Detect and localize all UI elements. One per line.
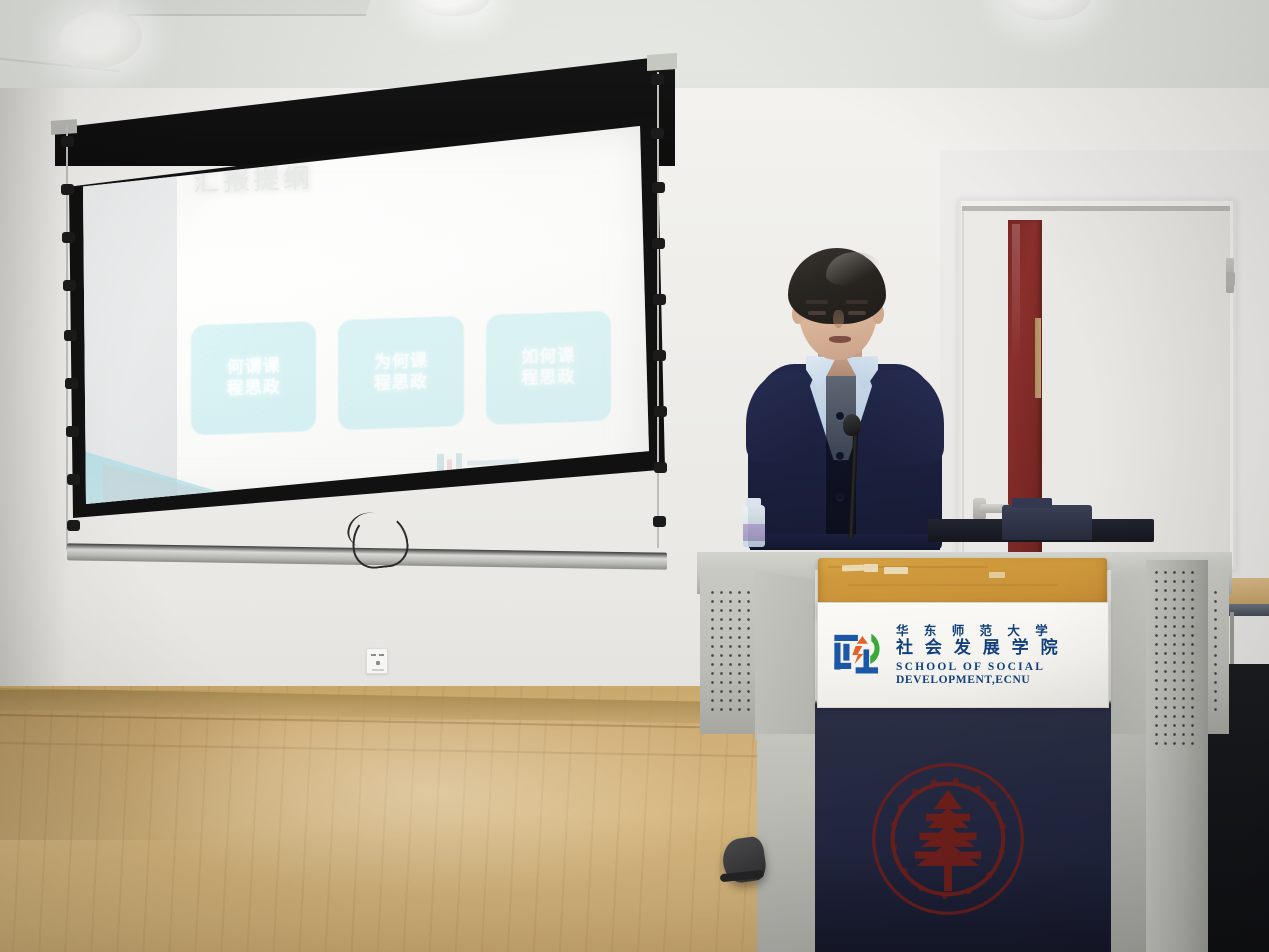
- tile-1-line-1: 何谓课: [227, 356, 281, 378]
- screen-tension-clip: [653, 516, 666, 527]
- lectern-side-grille-dots: [1152, 568, 1200, 750]
- speaker-person: [730, 248, 960, 548]
- screen-tension-clip: [653, 294, 666, 305]
- screen-tension-clip: [652, 182, 665, 193]
- sign-university-name: 华 东 师 范 大 学: [896, 623, 1095, 639]
- tile-1-line-2: 程思政: [227, 377, 281, 399]
- lecture-hall-photo: 汇报提纲 何谓课 程思政 为何课 程思政 如何课 程思政: [0, 0, 1269, 952]
- screen-tension-clip: [63, 280, 76, 291]
- screen-tension-cable-right: [657, 72, 659, 548]
- tape-mark: [842, 565, 864, 572]
- tile-3-line-2: 程思政: [521, 367, 575, 389]
- screen-tension-clip: [651, 128, 664, 139]
- screen-tension-clip: [66, 426, 79, 437]
- tile-3-line-1: 如何课: [521, 346, 575, 368]
- tile-2-line-1: 为何课: [374, 351, 428, 373]
- cardigan-shoulder-right: [870, 370, 944, 464]
- floor-light-reflection: [120, 720, 740, 900]
- screen-tension-clip: [61, 184, 74, 195]
- eyebrow-right: [846, 300, 868, 304]
- ecnu-seal: [869, 760, 1027, 918]
- tile-2-line-2: 程思政: [374, 372, 428, 394]
- nose: [833, 310, 844, 328]
- slide-tile-group: 何谓课 程思政 为何课 程思政 如何课 程思政: [191, 311, 611, 436]
- screen-tension-clip: [651, 74, 664, 85]
- wall-power-outlet[interactable]: [366, 648, 388, 674]
- side-desk-frame: [1228, 604, 1269, 616]
- door-panel-highlight: [1012, 224, 1020, 364]
- screen-tension-clip: [65, 378, 78, 389]
- door-lock-strip: [1035, 318, 1041, 398]
- lectern-base-left: [757, 734, 817, 952]
- hair-grey-highlight: [826, 252, 884, 286]
- screen-tension-clip: [62, 232, 75, 243]
- ecnu-school-logo-icon: [831, 626, 887, 684]
- cardigan-shoulder-left: [746, 372, 816, 462]
- cardigan-button: [836, 412, 844, 420]
- tape-mark: [989, 572, 1005, 578]
- screen-bracket-right: [647, 53, 677, 71]
- slide-tile-1: 何谓课 程思政: [191, 321, 316, 435]
- water-bottle-cap: [746, 498, 761, 507]
- door-top-gap: [962, 206, 1230, 211]
- eyebrow-left: [806, 300, 828, 304]
- door-hinge: [1226, 272, 1235, 286]
- sign-english-line-1: SCHOOL OF SOCIAL: [896, 661, 1095, 674]
- cardigan-button: [836, 492, 844, 500]
- side-desk-top: [1228, 578, 1269, 604]
- sign-english-line-2: DEVELOPMENT,ECNU: [896, 674, 1095, 687]
- screen-tension-clip: [653, 350, 666, 361]
- slide-app-left-pane: [83, 144, 177, 504]
- microphone-head: [843, 414, 861, 436]
- lectern-speaker-grille-left: [700, 570, 762, 734]
- screen-tension-clip: [67, 474, 80, 485]
- slide-surface: 汇报提纲 何谓课 程思政 为何课 程思政 如何课 程思政: [83, 126, 649, 504]
- av-equipment-top: [1012, 498, 1052, 508]
- screen-tension-clip: [652, 238, 665, 249]
- slide-tile-3: 如何课 程思政: [486, 311, 611, 425]
- mouth: [829, 336, 851, 343]
- slide-tile-2: 为何课 程思政: [338, 316, 463, 430]
- lectern-sign: 华 东 师 范 大 学 社 会 发 展 学 院 SCHOOL OF SOCIAL…: [817, 602, 1109, 708]
- screen-tension-clip: [654, 406, 667, 417]
- tape-mark: [864, 564, 878, 572]
- screen-bracket-left: [51, 119, 77, 135]
- ceiling-vent: [116, 0, 374, 16]
- sign-school-name: 社 会 发 展 学 院: [896, 639, 1095, 659]
- cardigan-button: [836, 452, 844, 460]
- screen-tension-clip: [654, 462, 667, 473]
- eye-left: [808, 311, 826, 315]
- screen-tension-clip: [67, 520, 80, 531]
- lectern-bevel-left: [755, 570, 817, 740]
- tape-mark: [884, 567, 908, 574]
- screen-tension-clip: [64, 330, 77, 341]
- eye-right: [848, 311, 866, 315]
- projection-screen: 汇报提纲 何谓课 程思政 为何课 程思政 如何课 程思政: [55, 48, 675, 528]
- screen-tension-clip: [61, 136, 74, 147]
